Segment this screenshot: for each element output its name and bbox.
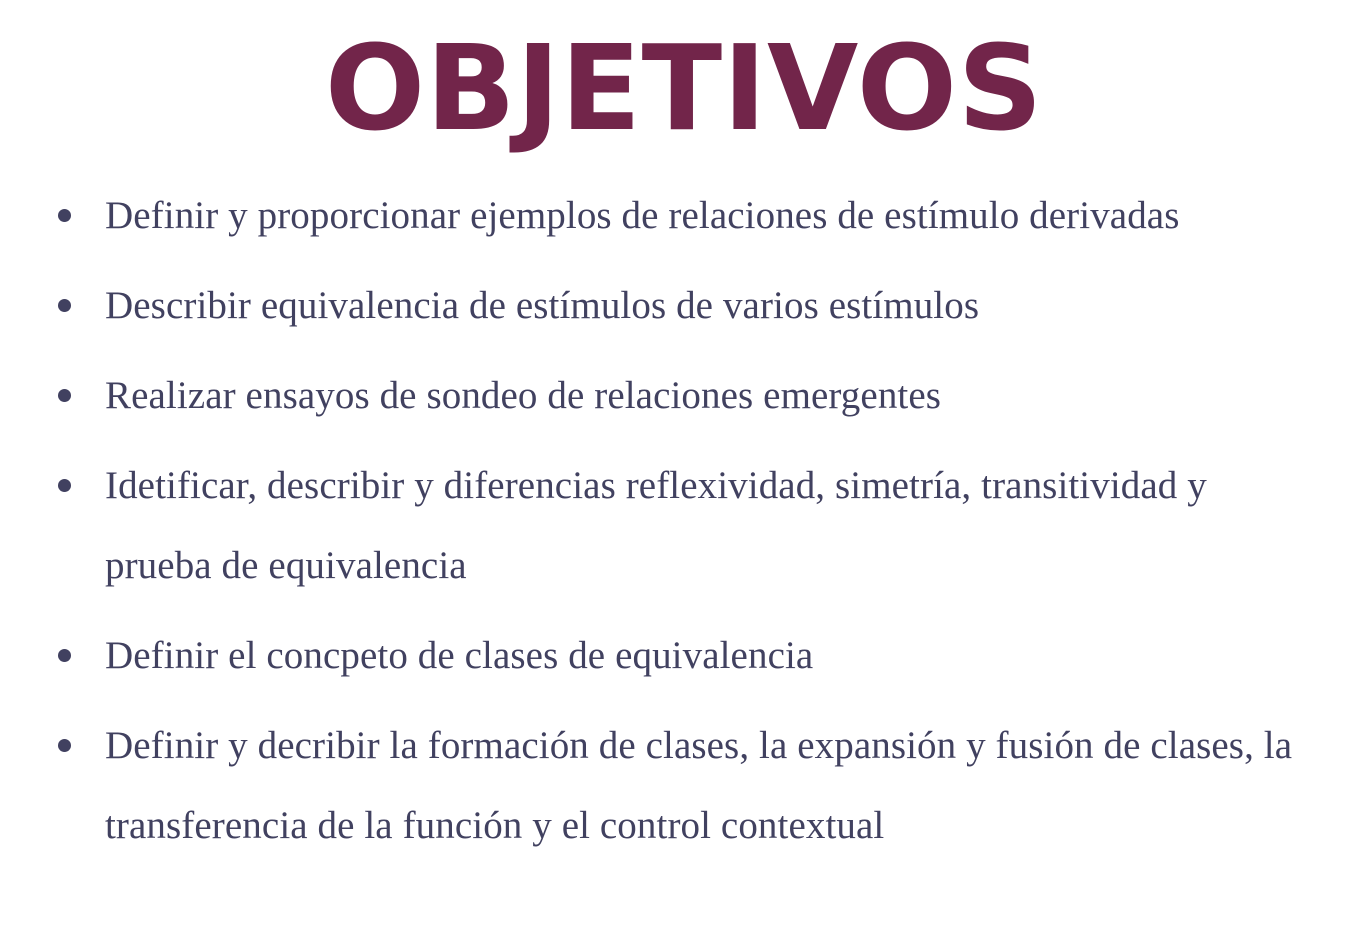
objective-text: Definir el concpeto de clases de equival… bbox=[105, 634, 813, 677]
objective-text: Idetificar, describir y diferencias refl… bbox=[105, 464, 1207, 587]
objective-text: Realizar ensayos de sondeo de relaciones… bbox=[105, 374, 941, 417]
objectives-slide: OBJETIVOS Definir y proporcionar ejemplo… bbox=[0, 0, 1368, 950]
list-item: Realizar ensayos de sondeo de relaciones… bbox=[0, 356, 1332, 436]
list-item: Definir y decribir la formación de clase… bbox=[0, 706, 1332, 866]
objectives-list: Definir y proporcionar ejemplos de relac… bbox=[0, 176, 1368, 876]
list-item: Describir equivalencia de estímulos de v… bbox=[0, 266, 1332, 346]
list-item: Idetificar, describir y diferencias refl… bbox=[0, 446, 1332, 606]
objective-text: Definir y decribir la formación de clase… bbox=[105, 724, 1292, 847]
list-item: Definir el concpeto de clases de equival… bbox=[0, 616, 1332, 696]
objective-text: Describir equivalencia de estímulos de v… bbox=[105, 284, 979, 327]
page-title: OBJETIVOS bbox=[0, 0, 1368, 151]
objective-text: Definir y proporcionar ejemplos de relac… bbox=[105, 194, 1180, 237]
list-item: Definir y proporcionar ejemplos de relac… bbox=[0, 176, 1332, 256]
